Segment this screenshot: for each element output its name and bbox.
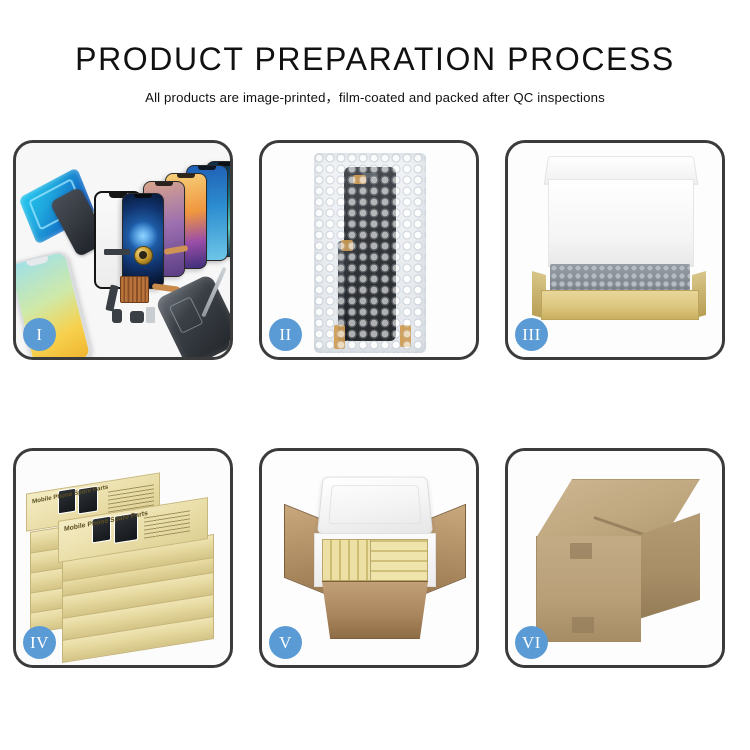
tape-piece-1-icon — [353, 175, 366, 184]
wrapped-phone-part-icon — [344, 167, 396, 341]
process-step-panel-2[interactable]: II — [259, 140, 479, 360]
bubble-wrapped-contents-icon — [550, 264, 690, 292]
carton-tab-1-icon — [570, 543, 592, 559]
sim-tray-icon — [146, 307, 155, 323]
page-title: PRODUCT PREPARATION PROCESS — [0, 42, 750, 77]
speaker-module-icon — [134, 246, 153, 265]
step-badge-2: II — [269, 318, 302, 351]
phone-1-icon — [122, 193, 164, 289]
phone-lineup — [120, 163, 230, 291]
kraft-box-front-icon — [541, 290, 699, 320]
taptic-engine-icon — [130, 311, 144, 323]
process-step-panel-5[interactable]: V — [259, 448, 479, 668]
page-subtitle: All products are image-printed，film-coat… — [0, 87, 750, 106]
process-step-panel-6[interactable]: VI — [505, 448, 725, 668]
screw-set-icon — [120, 276, 149, 303]
tape-piece-2-icon — [341, 240, 353, 251]
antenna-strip-icon — [104, 249, 130, 255]
step-badge-1: I — [23, 318, 56, 351]
process-step-panel-3[interactable]: III — [505, 140, 725, 360]
carton-body-icon — [316, 581, 434, 639]
packed-boxes-row-2 — [370, 539, 428, 581]
carton-tab-2-icon — [572, 617, 594, 633]
camera-module-icon — [112, 309, 122, 323]
step-badge-4: IV — [23, 626, 56, 659]
process-step-panel-4[interactable]: Mobile Phone Spare Parts Mobile Phone Sp… — [13, 448, 233, 668]
process-step-panel-1[interactable]: I — [13, 140, 233, 360]
styrofoam-lid-icon — [317, 477, 433, 535]
tape-piece-3-icon — [334, 325, 345, 349]
tape-piece-4-icon — [400, 325, 411, 347]
step-badge-5: V — [269, 626, 302, 659]
foam-liner-icon — [548, 179, 694, 267]
page-header: PRODUCT PREPARATION PROCESS All products… — [0, 0, 750, 106]
step-badge-3: III — [515, 318, 548, 351]
step-badge-6: VI — [515, 626, 548, 659]
bubble-wrap-bag-icon — [314, 153, 426, 353]
process-steps-grid: I II — [13, 140, 737, 668]
